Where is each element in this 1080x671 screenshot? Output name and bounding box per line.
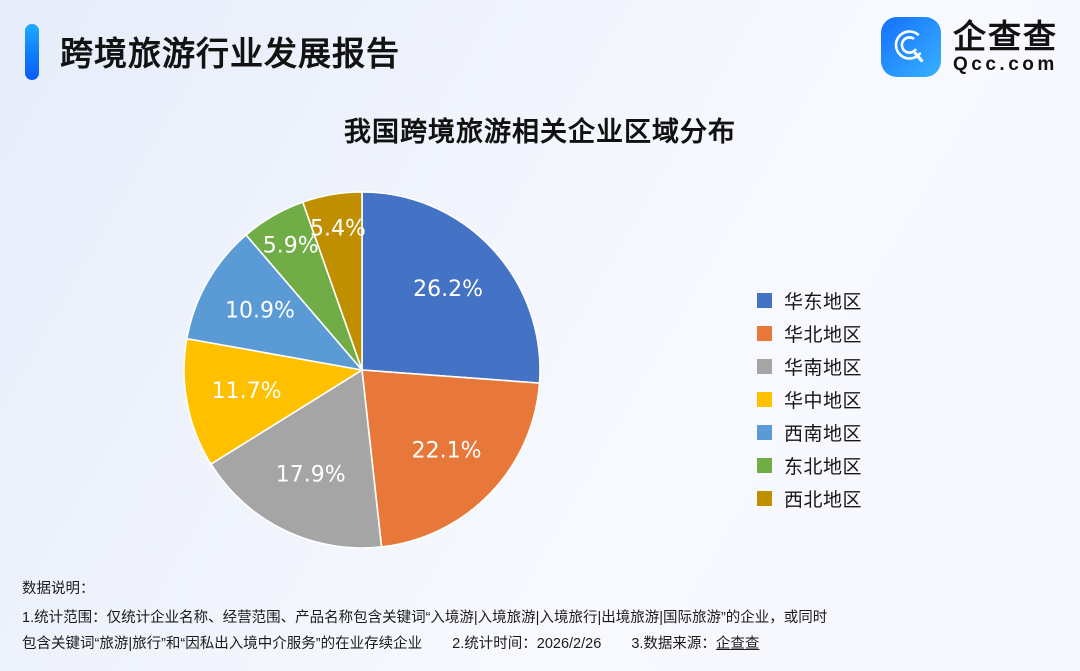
legend-swatch-icon bbox=[757, 491, 772, 506]
legend-swatch-icon bbox=[757, 359, 772, 374]
legend-label: 华东地区 bbox=[784, 287, 862, 314]
footnote-title: 数据说明： bbox=[22, 576, 1062, 602]
legend-swatch-icon bbox=[757, 326, 772, 341]
chart-legend: 华东地区华北地区华南地区华中地区西南地区东北地区西北地区 bbox=[757, 284, 862, 515]
pie-slice-label: 5.4% bbox=[310, 217, 366, 242]
footnote-source-value: 企查查 bbox=[716, 636, 760, 652]
legend-item[interactable]: 华南地区 bbox=[757, 350, 862, 383]
pie-slice-label: 22.1% bbox=[412, 439, 482, 464]
pie-slice-label: 26.2% bbox=[413, 277, 483, 302]
legend-item[interactable]: 华北地区 bbox=[757, 317, 862, 350]
legend-label: 华南地区 bbox=[784, 353, 862, 380]
footnote-line-2: 包含关键词“旅游|旅行”和“因私出入境中介服务”的在业存续企业 2.统计时间：2… bbox=[22, 631, 1062, 657]
pie-slice-label: 11.7% bbox=[212, 379, 282, 404]
legend-swatch-icon bbox=[757, 293, 772, 308]
page-title: 跨境旅游行业发展报告 bbox=[60, 27, 400, 75]
pie-slice-group bbox=[184, 192, 540, 548]
brand-name-cn: 企查查 bbox=[953, 20, 1058, 53]
legend-label: 华北地区 bbox=[784, 320, 862, 347]
qcc-logo-icon bbox=[881, 17, 941, 77]
legend-swatch-icon bbox=[757, 425, 772, 440]
legend-item[interactable]: 西南地区 bbox=[757, 416, 862, 449]
footnote: 数据说明： 1.统计范围：仅统计企业名称、经营范围、产品名称包含关键词“入境游|… bbox=[22, 576, 1062, 657]
legend-item[interactable]: 东北地区 bbox=[757, 449, 862, 482]
chart-title: 我国跨境旅游相关企业区域分布 bbox=[0, 110, 1080, 149]
pie-slice-label: 17.9% bbox=[276, 463, 346, 488]
brand-logo: 企查查 Qcc.com bbox=[881, 16, 1058, 78]
legend-label: 华中地区 bbox=[784, 386, 862, 413]
legend-item[interactable]: 华中地区 bbox=[757, 383, 862, 416]
legend-swatch-icon bbox=[757, 458, 772, 473]
pie-chart: 26.2%22.1%17.9%11.7%10.9%5.9%5.4% bbox=[182, 190, 542, 550]
brand-text: 企查查 Qcc.com bbox=[953, 20, 1058, 74]
footnote-source-label: 3.数据来源： bbox=[631, 636, 716, 652]
footnote-stat-time: 2.统计时间：2026/2/26 bbox=[452, 636, 601, 652]
pie-slice-label: 10.9% bbox=[225, 299, 295, 324]
pie-chart-svg: 26.2%22.1%17.9%11.7%10.9%5.9%5.4% bbox=[182, 190, 542, 550]
legend-item[interactable]: 西北地区 bbox=[757, 482, 862, 515]
legend-item[interactable]: 华东地区 bbox=[757, 284, 862, 317]
legend-label: 东北地区 bbox=[784, 452, 862, 479]
legend-label: 西北地区 bbox=[784, 485, 862, 512]
legend-swatch-icon bbox=[757, 392, 772, 407]
page-header: 跨境旅游行业发展报告 企查查 Qcc.com bbox=[0, 0, 1080, 95]
footnote-scope-cont: 包含关键词“旅游|旅行”和“因私出入境中介服务”的在业存续企业 bbox=[22, 636, 422, 652]
brand-name-en: Qcc.com bbox=[953, 55, 1058, 74]
footnote-line-1: 1.统计范围：仅统计企业名称、经营范围、产品名称包含关键词“入境游|入境旅游|入… bbox=[22, 605, 1062, 631]
title-accent-bar bbox=[25, 24, 39, 80]
legend-label: 西南地区 bbox=[784, 419, 862, 446]
